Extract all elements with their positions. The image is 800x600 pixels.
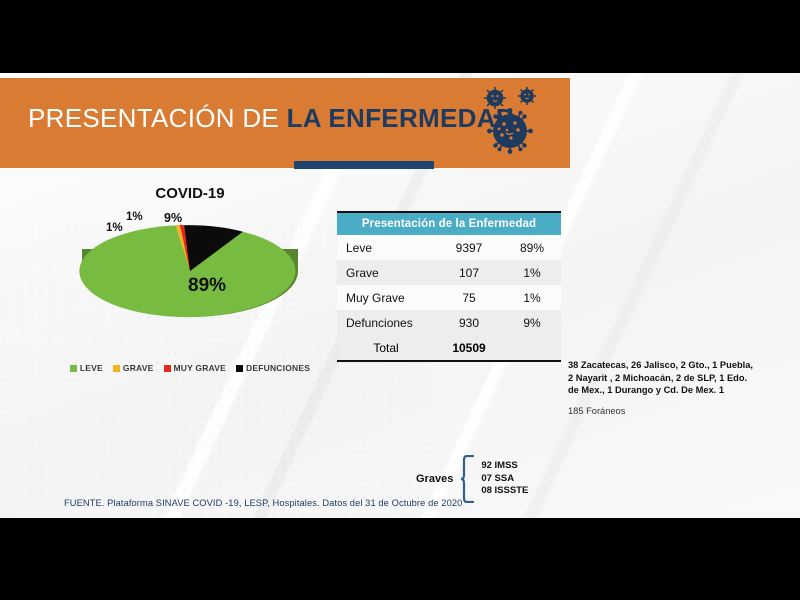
legend-item-leve[interactable]: LEVE [70, 363, 103, 373]
legend-item-muy-grave[interactable]: MUY GRAVE [164, 363, 227, 373]
legend-item-defunciones[interactable]: DEFUNCIONES [236, 363, 310, 373]
pie-label-muy-grave: 1% [126, 211, 143, 223]
pie-label-grave: 1% [106, 222, 123, 234]
table-row: Leve 9397 89% [337, 235, 561, 260]
legend-label-leve: LEVE [80, 363, 103, 373]
slide-viewer: PRESENTACIÓN DE LA ENFERMEDAD [0, 0, 800, 600]
page-title: PRESENTACIÓN DE LA ENFERMEDAD [28, 103, 515, 134]
table-total-row: Total 10509 [337, 335, 561, 360]
legend-swatch-grave [113, 365, 120, 372]
table-total-label: Total [337, 341, 435, 355]
legend-label-defunciones: DEFUNCIONES [246, 363, 310, 373]
pie-chart: COVID-19 [40, 185, 340, 395]
legend-label-grave: GRAVE [123, 363, 154, 373]
states-note-line1: 38 Zacatecas, 26 Jalisco, 2 Gto., 1 Pueb… [568, 359, 796, 372]
slide-canvas: PRESENTACIÓN DE LA ENFERMEDAD [0, 73, 800, 518]
table-cell-pct: 89% [503, 241, 561, 255]
table-cell-count: 75 [435, 291, 503, 305]
graves-breakdown: Graves 92 IMSS 07 SSA 08 ISSSTE [416, 455, 528, 503]
table-cell-count: 107 [435, 266, 503, 280]
chart-title: COVID-19 [40, 185, 340, 202]
graves-item: 92 IMSS [481, 460, 528, 473]
table-cell-count: 930 [435, 316, 503, 330]
source-footer: FUENTE. Plataforma SINAVE COVID -19, LES… [64, 498, 462, 508]
table-cell-pct: 1% [503, 266, 561, 280]
table-cell-pct: 1% [503, 291, 561, 305]
legend-swatch-leve [70, 365, 77, 372]
table-cell-label: Leve [337, 241, 435, 255]
graves-item: 07 SSA [481, 473, 528, 486]
pie-slices [79, 225, 295, 317]
curly-brace-icon [460, 455, 474, 503]
table-cell-label: Grave [337, 266, 435, 280]
legend-label-muy-grave: MUY GRAVE [174, 363, 227, 373]
table-header: Presentación de la Enfermedad [337, 213, 561, 235]
table-row: Defunciones 930 9% [337, 310, 561, 335]
table-cell-label: Defunciones [337, 316, 435, 330]
states-note-line2: 2 Nayarit , 2 Michoacán, 2 de SLP, 1 Edo… [568, 372, 796, 385]
header-underline [294, 161, 434, 169]
table-row: Grave 107 1% [337, 260, 561, 285]
virus-germ-icon [478, 85, 548, 157]
disease-presentation-table: Presentación de la Enfermedad Leve 9397 … [337, 211, 561, 362]
graves-items: 92 IMSS 07 SSA 08 ISSSTE [481, 460, 528, 498]
table-cell-pct: 9% [503, 316, 561, 330]
table-row: Muy Grave 75 1% [337, 285, 561, 310]
states-note-line3: de Mex., 1 Durango y Cd. De Mex. 1 [568, 384, 796, 397]
states-note: 38 Zacatecas, 26 Jalisco, 2 Gto., 1 Pueb… [568, 359, 796, 416]
graves-label: Graves [416, 473, 453, 485]
legend-swatch-muy-grave [164, 365, 171, 372]
page-title-light: PRESENTACIÓN DE [28, 103, 287, 133]
legend-swatch-defunciones [236, 365, 243, 372]
pie-label-defunciones: 9% [164, 211, 182, 225]
foraneos-count: 185 Foráneos [568, 406, 796, 416]
table-cell-label: Muy Grave [337, 291, 435, 305]
table-cell-count: 9397 [435, 241, 503, 255]
pie-label-leve: 89% [188, 275, 226, 297]
graves-item: 08 ISSSTE [481, 485, 528, 498]
table-total-value: 10509 [435, 341, 503, 355]
legend-item-grave[interactable]: GRAVE [113, 363, 154, 373]
chart-legend: LEVE GRAVE MUY GRAVE DEFUNCIONES [40, 363, 340, 373]
